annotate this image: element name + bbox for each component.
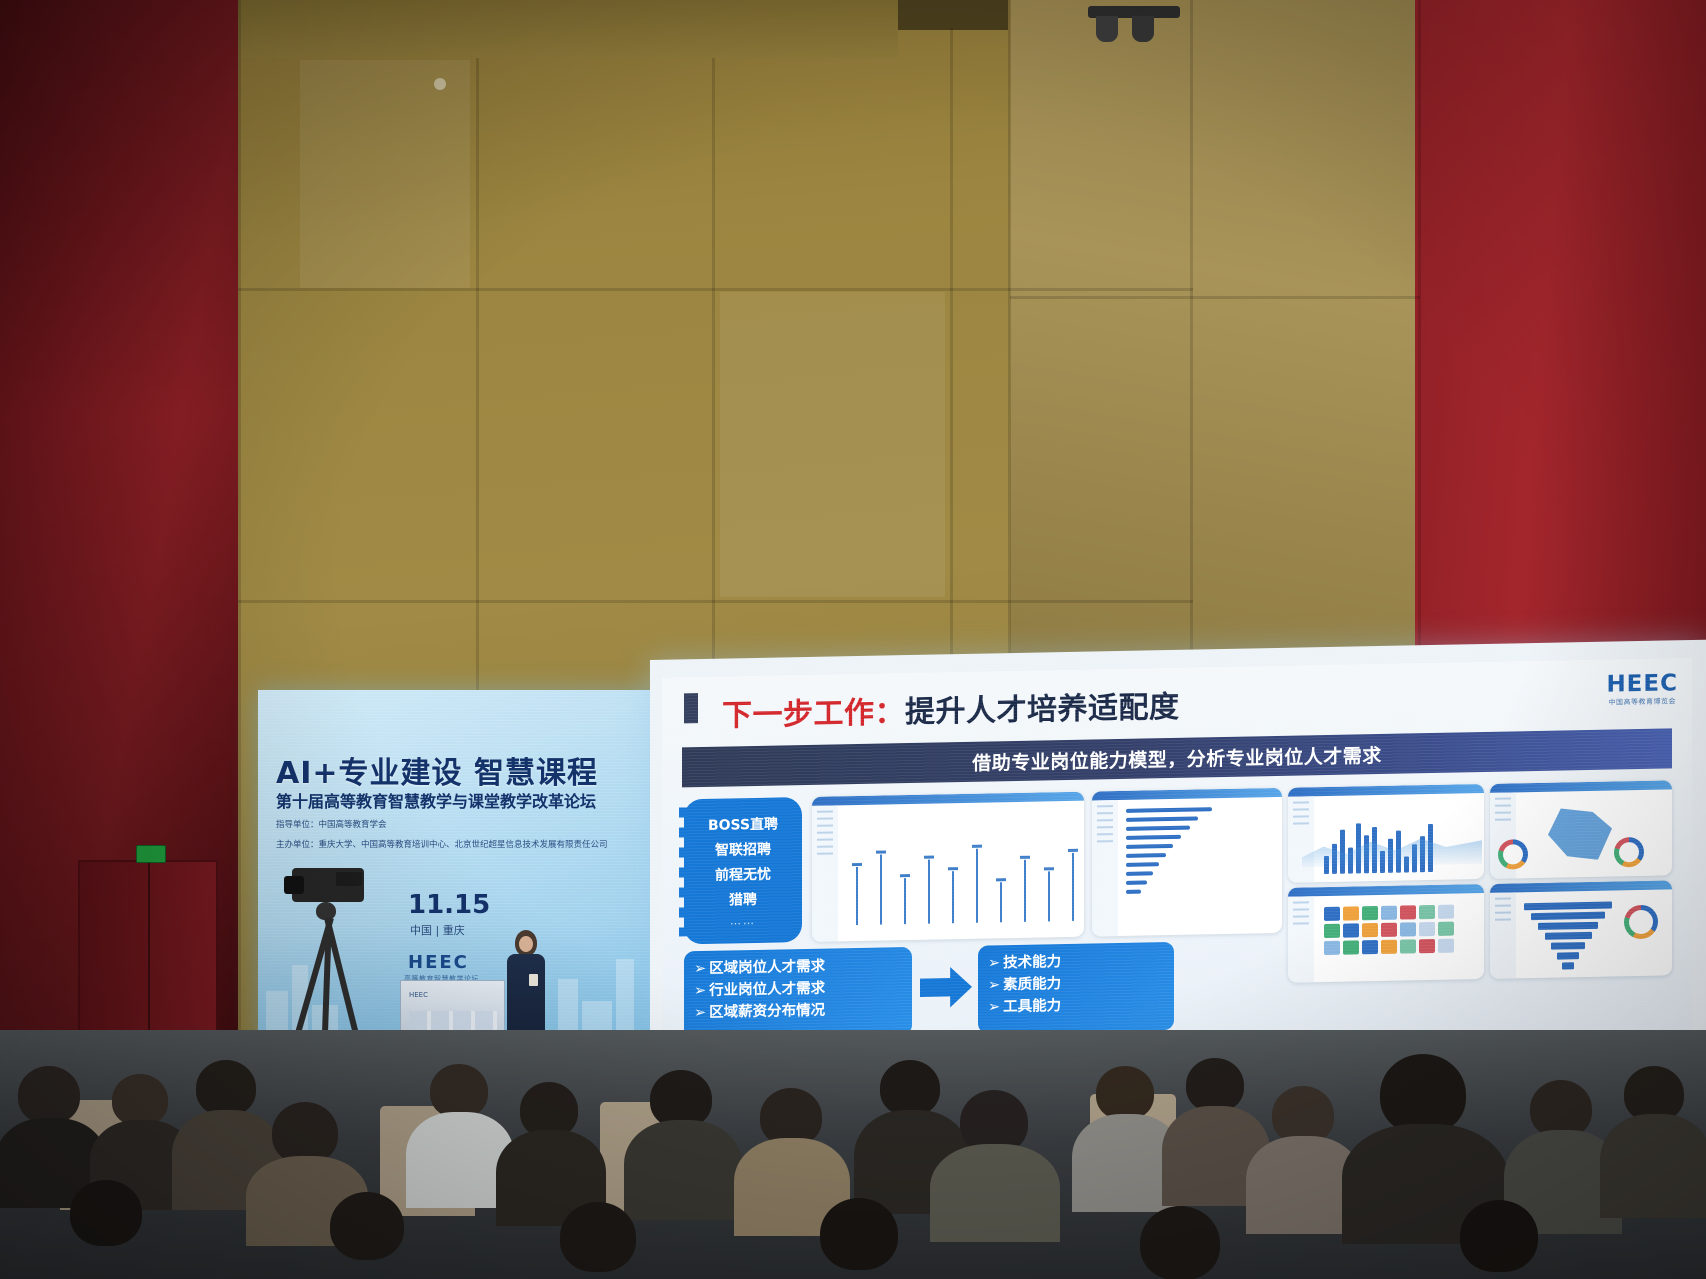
error-bars-chart — [846, 816, 1076, 931]
panel-highlight — [300, 60, 470, 288]
audience-area — [0, 1030, 1706, 1279]
panel-seam — [238, 0, 241, 1045]
slide-subtitle-text: 借助专业岗位能力模型，分析专业岗位人才需求 — [972, 740, 1382, 775]
job-demand-inputs-box: ➢区域岗位人才需求 ➢行业岗位人才需求 ➢区域薪资分布情况 — [684, 947, 912, 1039]
panel-seam — [1418, 0, 1421, 660]
slide-title-red: 下一步工作： — [722, 695, 905, 734]
presentation-slide: 下一步工作：提升人才培养适配度 借助专业岗位能力模型，分析专业岗位人才需求 HE… — [662, 658, 1692, 1050]
hall-door[interactable] — [78, 860, 218, 1045]
left-screen-place: 中国 | 重庆 — [410, 922, 465, 938]
horizontal-bar-card — [1092, 788, 1282, 937]
wall-red-far — [1415, 0, 1706, 660]
source-ellipsis: …… — [730, 914, 756, 927]
left-screen-guidance: 指导单位：中国高等教育学会 — [276, 818, 387, 830]
source-item-3: 猎聘 — [729, 889, 757, 910]
recruiting-sources-stack: BOSS直聘 智联招聘 前程无忧 猎聘 …… — [684, 797, 802, 944]
podium-label: HEEC — [409, 991, 428, 999]
donut-chart — [1624, 905, 1658, 940]
panel-highlight — [720, 292, 945, 597]
speaker-person — [505, 930, 547, 1045]
wall-speaker-nub — [434, 78, 446, 90]
heec-brand-slide: HEEC 中国高等教育博览会 — [1606, 670, 1678, 707]
panel-seam — [1008, 0, 1011, 690]
panel-seam — [1010, 296, 1420, 299]
map-graphic — [1548, 808, 1612, 861]
funnel-card — [1490, 880, 1672, 978]
led-screen-right: 下一步工作：提升人才培养适配度 借助专业岗位能力模型，分析专业岗位人才需求 HE… — [650, 640, 1706, 1060]
left-screen-organizer: 主办单位：重庆大学、中国高等教育培训中心、北京世纪超星信息技术发展有限责任公司 — [276, 838, 608, 850]
capability-outputs-box: ➢技术能力 ➢素质能力 ➢工具能力 — [978, 942, 1174, 1034]
slide-title: 下一步工作：提升人才培养适配度 — [722, 682, 1180, 735]
heatmap-card — [1288, 884, 1484, 983]
panel-seam — [1190, 0, 1193, 700]
exit-sign — [136, 845, 166, 863]
error-bar-chart-card — [812, 792, 1084, 942]
source-item-1: 智联招聘 — [715, 839, 771, 860]
slide-title-rest: 提升人才培养适配度 — [905, 690, 1180, 730]
source-item-0: BOSS直聘 — [708, 814, 778, 835]
output-item-2: ➢工具能力 — [988, 993, 1164, 1018]
column-chart-card — [1288, 784, 1484, 883]
left-screen-title: AI+专业建设 智慧课程 — [276, 748, 646, 792]
panel-seam — [950, 28, 953, 698]
wall-top-band — [238, 0, 898, 58]
panel-seam — [238, 288, 1193, 291]
heec-mark: HEEC — [1606, 670, 1678, 697]
conference-photo: AI+专业建设 智慧课程 第十届高等教育智慧教学与课堂教学改革论坛 指导单位：中… — [0, 0, 1706, 1279]
ceiling-camera — [1088, 6, 1180, 46]
funnel-chart — [1524, 902, 1612, 974]
wall-gap — [898, 0, 1008, 30]
flow-arrow-icon — [920, 964, 972, 1011]
heec-mark-sub: 中国高等教育博览会 — [1606, 696, 1678, 707]
left-screen-subtitle: 第十届高等教育智慧教学与课堂教学改革论坛 — [276, 788, 656, 812]
left-screen-date: 11.15 — [408, 890, 490, 920]
h-bars-chart — [1126, 807, 1216, 899]
tripod-camera — [282, 868, 377, 1048]
wall-wood-right — [1010, 0, 1420, 690]
heec-logo-left: HEEC — [408, 952, 469, 973]
source-item-2: 前程无忧 — [715, 864, 771, 885]
input-item-2: ➢区域薪资分布情况 — [694, 998, 902, 1024]
heatmap-grid — [1324, 905, 1454, 955]
panel-seam — [238, 600, 1193, 603]
slide-subtitle-bar: 借助专业岗位能力模型，分析专业岗位人才需求 — [682, 728, 1672, 787]
title-accent-bar — [684, 693, 698, 723]
